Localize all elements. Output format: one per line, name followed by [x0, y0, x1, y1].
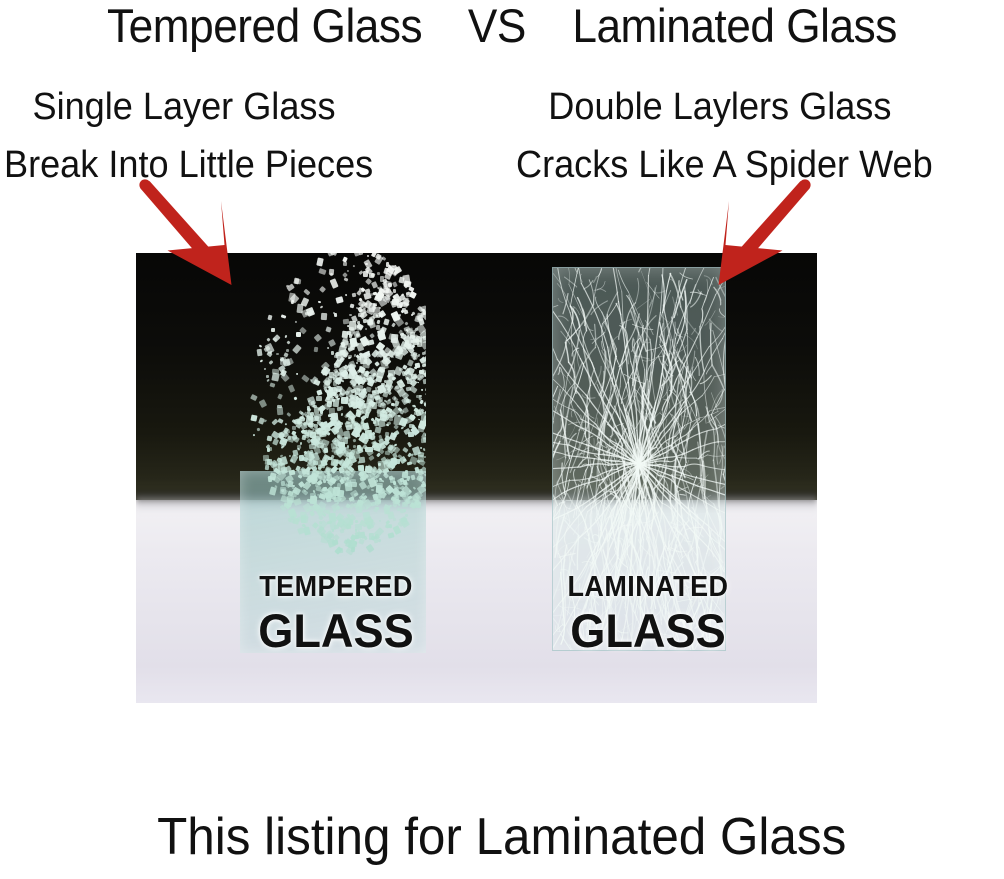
arrow-down-left-icon [700, 178, 830, 293]
photo-label-laminated-bottom: GLASS [514, 607, 783, 654]
photo-label-tempered-bottom: GLASS [202, 607, 471, 654]
page-title: Tempered Glass VS Laminated Glass [0, 0, 1004, 54]
footer-caption: This listing for Laminated Glass [0, 794, 1004, 879]
footer-caption-text: This listing for Laminated Glass [157, 811, 846, 863]
tempered-description: Single Layer Glass Break Into Little Pie… [4, 78, 373, 194]
title-versus-separator: VS [468, 2, 526, 49]
photo-label-tempered-top: TEMPERED [206, 573, 466, 602]
comparison-descriptions: Single Layer Glass Break Into Little Pie… [0, 78, 1004, 188]
tempered-description-line-1: Single Layer Glass [4, 78, 373, 136]
arrow-down-right-icon [120, 178, 250, 293]
laminated-description-line-1: Double Laylers Glass [516, 78, 933, 136]
photo-label-laminated-top: LAMINATED [518, 573, 778, 602]
photo-label-tempered-glass: TEMPERED GLASS [196, 573, 476, 654]
photo-label-laminated-glass: LAMINATED GLASS [508, 573, 788, 654]
laminated-description: Double Laylers Glass Cracks Like A Spide… [516, 78, 933, 194]
title-laminated-glass: Laminated Glass [572, 2, 896, 49]
comparison-photo: TEMPERED GLASS LAMINATED GLASS [136, 253, 817, 703]
title-tempered-glass: Tempered Glass [107, 2, 422, 49]
tempered-shards-cloud [240, 253, 426, 577]
